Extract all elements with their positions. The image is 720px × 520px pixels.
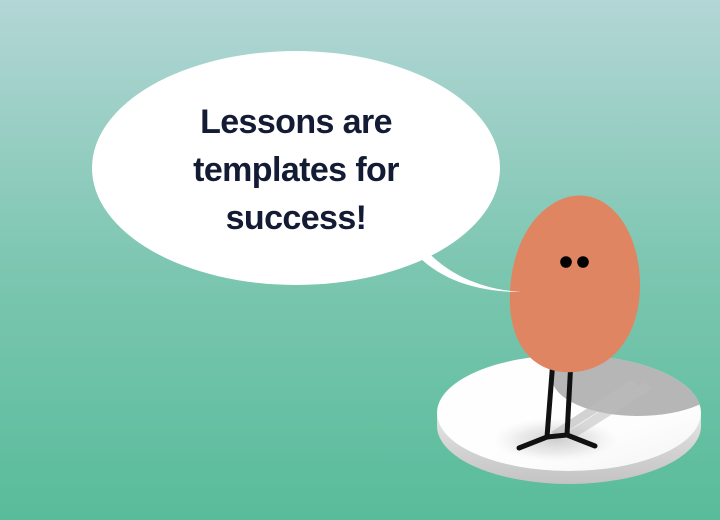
speech-bubble-body [92, 51, 500, 285]
bird-body [510, 195, 640, 372]
bird-eye-left [560, 256, 572, 268]
left-foot-inner [547, 435, 567, 437]
illustration-scene: Lessons are templates for success! [0, 0, 720, 520]
egg-bird-character [510, 195, 640, 372]
bird-eye-right [577, 256, 589, 268]
speech-bubble [92, 51, 521, 292]
floor-contact-shadow [494, 418, 618, 462]
vector-artboard [0, 0, 720, 520]
